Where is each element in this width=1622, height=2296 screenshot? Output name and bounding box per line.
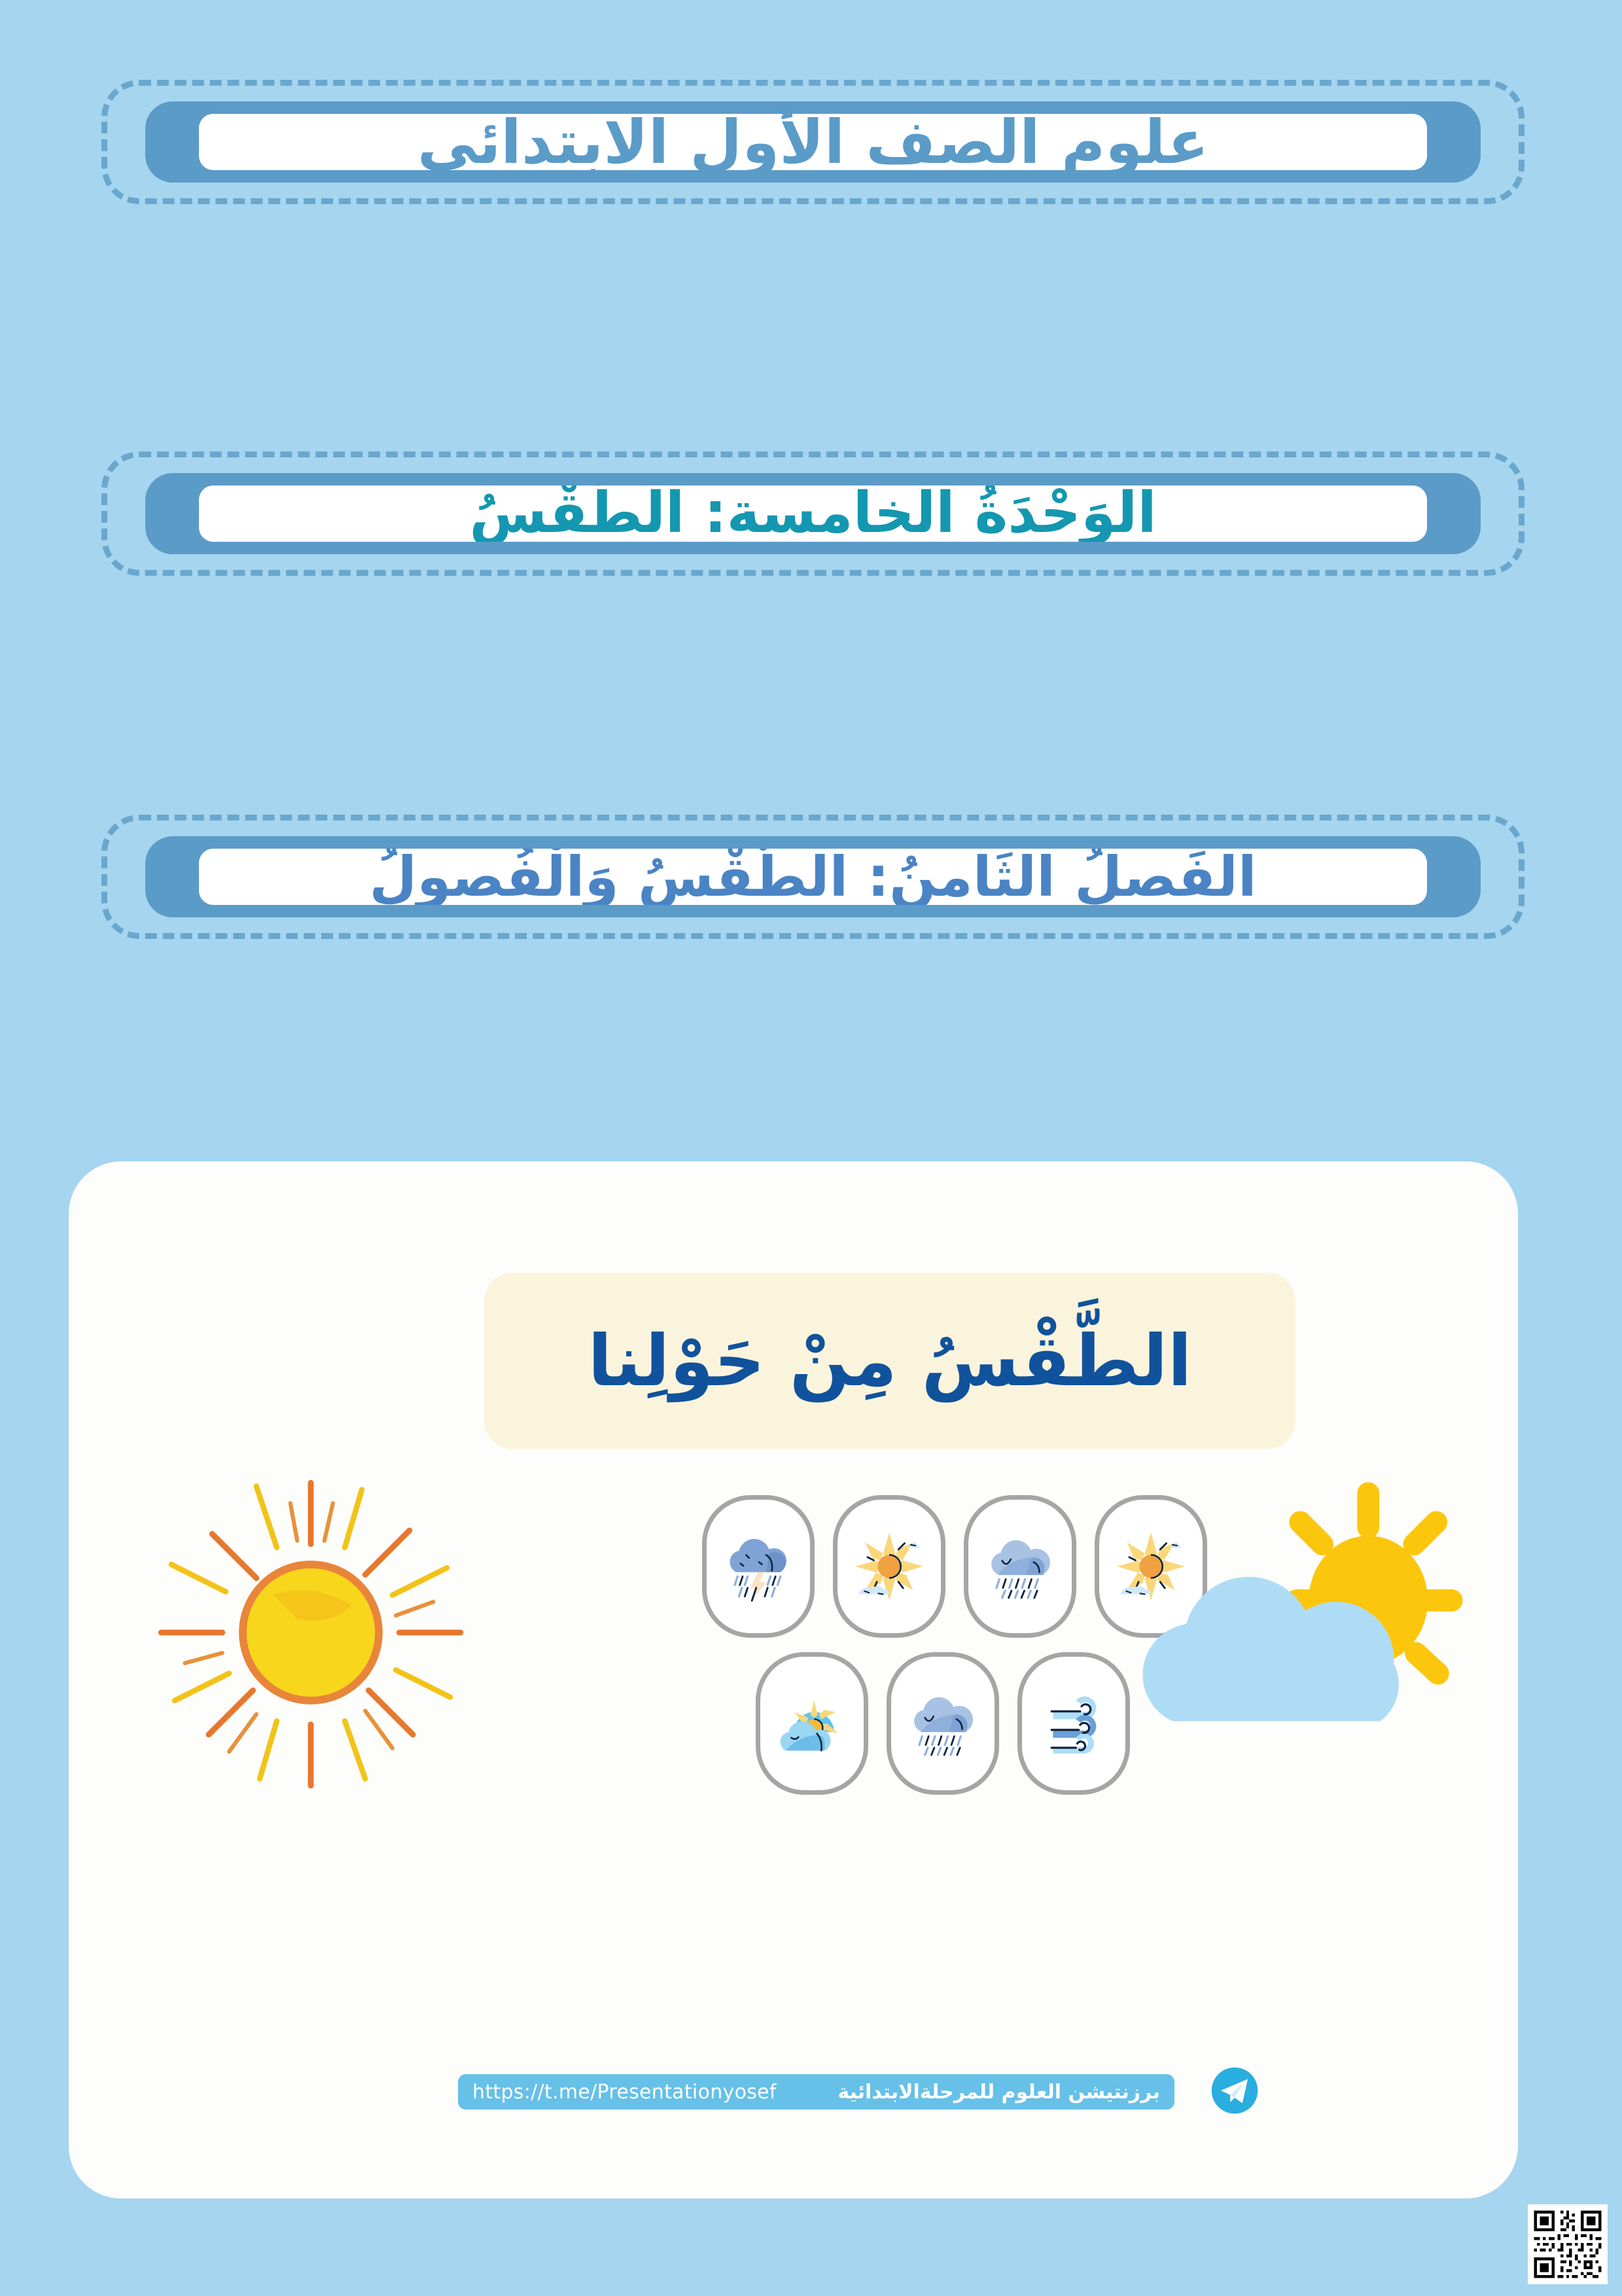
weather-card-windy[interactable] [1017, 1652, 1130, 1795]
unit-title: الوَحْدَةُ الخامسة: الطَّقْسُ [469, 486, 1156, 542]
banner-frame: علوم الصف الأول الابتدائي [145, 101, 1481, 183]
banner-inner-panel: علوم الصف الأول الابتدائي [199, 114, 1427, 171]
banner-inner-panel: الفَصلُ الثَامنُ: الطَّقْسُ وَالْفُصولُ [199, 849, 1427, 906]
weather-card-rainy[interactable] [964, 1495, 1076, 1638]
weather-card-thunderstorm[interactable] [702, 1495, 815, 1638]
weather-card-sunny-2[interactable] [833, 1495, 945, 1638]
weather-card-row [605, 1495, 1207, 1638]
lesson-title: الطَّقْسُ مِنْ حَوْلِنا [588, 1320, 1191, 1402]
sunny-icon [851, 1528, 928, 1605]
sun-behind-cloud-icon [1135, 1466, 1475, 1747]
weather-card-grid [605, 1495, 1207, 1795]
thunderstorm-icon [719, 1528, 798, 1605]
weather-card-rainy-2[interactable] [887, 1652, 999, 1795]
qr-code-icon [1528, 2204, 1608, 2284]
chapter-title: الفَصلُ الثَامنُ: الطَّقْسُ وَالْفُصولُ [369, 849, 1256, 906]
footer-credit-bar: https://t.me/Presentationyosef برزنتيشن … [458, 2074, 1174, 2110]
banner-unit: الوَحْدَةُ الخامسة: الطَّقْسُ [101, 451, 1525, 576]
hand-drawn-sun-icon [141, 1462, 481, 1803]
footer-arabic-label: برزنتيشن العلوم للمرحلةالابتدائية [837, 2081, 1160, 2104]
main-content-card: الطَّقْسُ مِنْ حَوْلِنا [69, 1161, 1518, 2199]
rainy-icon [904, 1685, 982, 1762]
banner-frame: الفَصلُ الثَامنُ: الطَّقْسُ وَالْفُصولُ [145, 836, 1481, 917]
banner-frame: الوَحْدَةُ الخامسة: الطَّقْسُ [145, 473, 1481, 554]
windy-icon [1034, 1685, 1113, 1762]
telegram-icon[interactable] [1207, 2063, 1262, 2118]
banner-chapter: الفَصلُ الثَامنُ: الطَّقْسُ وَالْفُصولُ [101, 815, 1525, 939]
telegram-channel-url[interactable]: https://t.me/Presentationyosef [472, 2081, 777, 2104]
partly-cloudy-icon [773, 1687, 851, 1759]
lesson-title-pill: الطَّقْسُ مِنْ حَوْلِنا [484, 1273, 1296, 1449]
banner-subject: علوم الصف الأول الابتدائي [101, 80, 1525, 204]
banner-inner-panel: الوَحْدَةُ الخامسة: الطَّقْسُ [199, 486, 1427, 542]
weather-card-row [605, 1652, 1207, 1795]
rainy-icon [981, 1528, 1059, 1605]
weather-card-partly-cloudy[interactable] [756, 1652, 868, 1795]
subject-title: علوم الصف الأول الابتدائي [417, 114, 1208, 171]
